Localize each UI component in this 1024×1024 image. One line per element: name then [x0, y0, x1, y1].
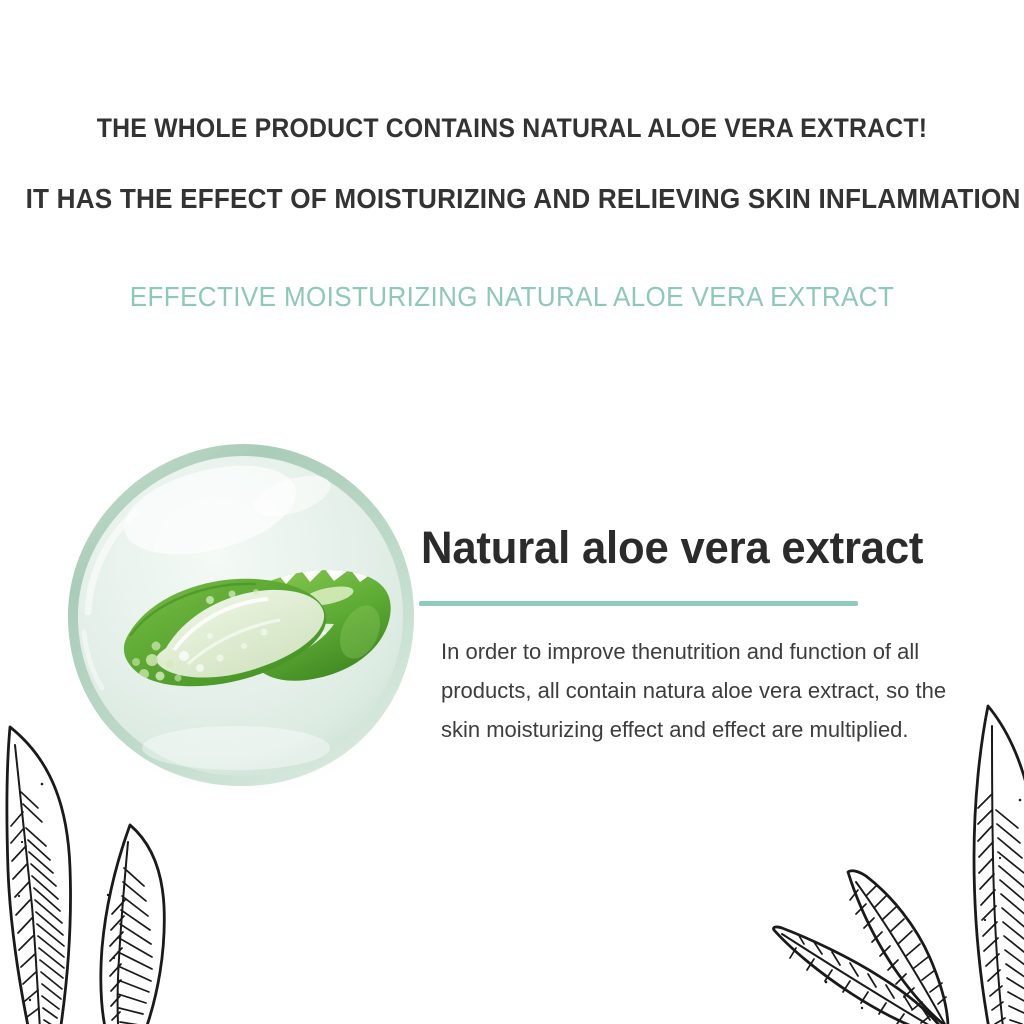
feature-description-text: In order to improve thenutrition and fun… [441, 632, 969, 749]
leaf-middle-right [848, 871, 948, 1024]
leaf-lower-right [773, 927, 948, 1024]
leaf-tall-right [974, 706, 1024, 1024]
headline-secondary: IT HAS THE EFFECT OF MOISTURIZING AND RE… [26, 183, 999, 215]
product-banner: THE WHOLE PRODUCT CONTAINS NATURAL ALOE … [0, 0, 1024, 1024]
subheadline-tagline: EFFECTIVE MOISTURIZING NATURAL ALOE VERA… [36, 281, 988, 313]
feature-heading: Natural aloe vera extract [421, 522, 923, 574]
aloe-droplet-image [60, 436, 422, 804]
leaf-short-left [101, 825, 164, 1024]
feature-description: In order to improve thenutrition and fun… [441, 632, 969, 749]
heading-divider [419, 601, 858, 606]
headline-primary: THE WHOLE PRODUCT CONTAINS NATURAL ALOE … [41, 113, 983, 144]
